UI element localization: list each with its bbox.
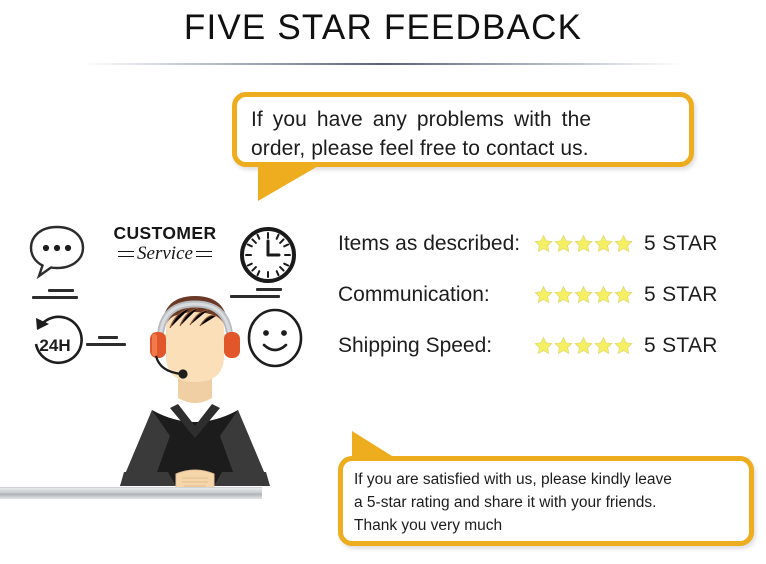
- customer-service-logo: CUSTOMER Service: [104, 224, 226, 265]
- star-icon: [594, 336, 613, 355]
- clock-icon: [238, 225, 298, 285]
- support-agent-illustration: [90, 286, 300, 496]
- page-title: FIVE STAR FEEDBACK: [0, 8, 766, 48]
- top-bubble-line-1: If you have any problems with the: [251, 105, 677, 134]
- logo-rule-right: [196, 251, 212, 257]
- ratings-list: Items as described: 5 STAR Communication…: [338, 218, 750, 371]
- rating-stars: [534, 234, 638, 253]
- star-icon: [594, 234, 613, 253]
- bottom-speech-bubble: If you are satisfied with us, please kin…: [338, 456, 754, 546]
- rating-score: 5 STAR: [638, 334, 718, 358]
- star-icon: [574, 234, 593, 253]
- title-divider: [83, 63, 683, 65]
- rating-row: Shipping Speed: 5 STAR: [338, 320, 750, 371]
- star-icon: [554, 336, 573, 355]
- top-bubble-text: If you have any problems with the order,…: [237, 97, 689, 163]
- bottom-bubble-line-2: a 5-star rating and share it with your f…: [354, 491, 739, 514]
- five-star-feedback-banner: FIVE STAR FEEDBACK If you have any probl…: [0, 0, 766, 564]
- star-icon: [534, 234, 553, 253]
- rating-label: Shipping Speed:: [338, 334, 534, 358]
- rating-score: 5 STAR: [638, 232, 718, 256]
- rating-score: 5 STAR: [638, 283, 718, 307]
- star-icon: [614, 336, 633, 355]
- logo-rule-left: [118, 251, 134, 257]
- 24h-support-icon: 24H: [24, 312, 86, 374]
- star-icon: [594, 285, 613, 304]
- chat-bubble-dots-icon: [26, 222, 88, 284]
- star-icon: [554, 285, 573, 304]
- star-icon: [534, 336, 553, 355]
- star-icon: [534, 285, 553, 304]
- star-icon: [554, 234, 573, 253]
- rating-stars: [534, 336, 638, 355]
- bottom-bubble-text: If you are satisfied with us, please kin…: [343, 461, 749, 537]
- rating-label: Communication:: [338, 283, 534, 307]
- top-bubble-tail: [258, 165, 320, 201]
- star-icon: [574, 336, 593, 355]
- customer-service-logo-bottom: Service: [104, 243, 226, 265]
- top-bubble-line-2: order, please feel free to contact us.: [251, 134, 677, 163]
- bottom-bubble-line-1: If you are satisfied with us, please kin…: [354, 468, 739, 491]
- desk-surface: [0, 487, 262, 499]
- star-icon: [574, 285, 593, 304]
- customer-service-logo-top: CUSTOMER: [104, 224, 226, 243]
- rating-row: Items as described: 5 STAR: [338, 218, 750, 269]
- rating-label: Items as described:: [338, 232, 534, 256]
- star-icon: [614, 285, 633, 304]
- bottom-bubble-line-3: Thank you very much: [354, 514, 739, 537]
- 24h-label: 24H: [39, 336, 70, 355]
- rating-stars: [534, 285, 638, 304]
- star-icon: [614, 234, 633, 253]
- rating-row: Communication: 5 STAR: [338, 269, 750, 320]
- decorative-dashes-left-top: [32, 289, 78, 303]
- top-speech-bubble: If you have any problems with the order,…: [232, 92, 694, 167]
- customer-service-logo-script: Service: [137, 243, 193, 265]
